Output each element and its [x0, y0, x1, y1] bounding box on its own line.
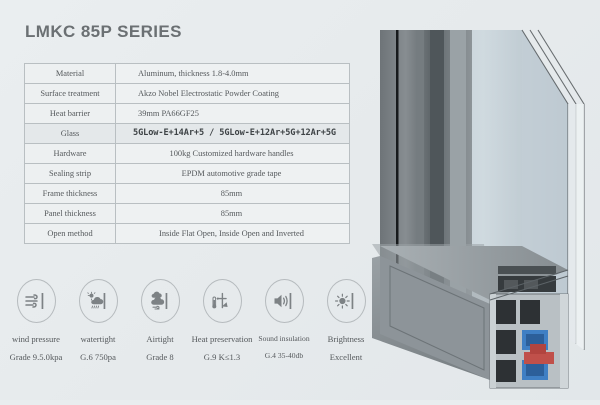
spec-value: 100kg Customized hardware handles	[116, 144, 350, 164]
table-row: Sealing strip EPDM automotive grade tape	[25, 164, 350, 184]
spec-key: Material	[25, 64, 116, 84]
feature-item-airtight: Airtight Grade 8	[130, 279, 190, 362]
feature-label: Airtight	[146, 335, 173, 345]
feature-label: Brightness	[328, 335, 365, 345]
wind-icon-badge	[17, 279, 56, 323]
spec-key: Frame thickness	[25, 184, 116, 204]
window-profile-illustration	[372, 8, 600, 400]
feature-label: Heat preservation	[192, 335, 253, 345]
table-row: Frame thickness 85mm	[25, 184, 350, 204]
feature-item-sound-insulation: Sound insulation G.4 35-40db	[254, 279, 314, 360]
specification-table: Material Aluminum, thickness 1.8-4.0mm S…	[24, 63, 350, 244]
table-row: Panel thickness 85mm	[25, 204, 350, 224]
spec-key: Surface treatment	[25, 84, 116, 104]
cloud-wind-icon	[148, 291, 172, 311]
feature-item-brightness: Brightness Excellent	[316, 279, 376, 362]
spec-key: Glass	[25, 124, 116, 144]
page-title: LMKC 85P SERIES	[25, 22, 182, 42]
feature-list: wind pressure Grade 9.5.0kpa	[6, 279, 376, 362]
spec-value: 85mm	[116, 184, 350, 204]
spec-value: EPDM automotive grade tape	[116, 164, 350, 184]
feature-label: Sound insulation	[258, 335, 309, 344]
spec-key: Open method	[25, 224, 116, 244]
spec-table-body: Material Aluminum, thickness 1.8-4.0mm S…	[25, 64, 350, 244]
feature-item-wind-pressure: wind pressure Grade 9.5.0kpa	[6, 279, 66, 362]
sun-icon	[334, 291, 358, 311]
spec-value-glass: 5GLow-E+14Ar+5 / 5GLow-E+12Ar+5G+12Ar+5G	[116, 124, 350, 144]
thermometer-icon-badge	[203, 279, 242, 323]
thermometer-icon	[210, 291, 234, 311]
table-row: Material Aluminum, thickness 1.8-4.0mm	[25, 64, 350, 84]
table-row: Hardware 100kg Customized hardware handl…	[25, 144, 350, 164]
speaker-icon	[272, 291, 296, 311]
table-row: Open method Inside Flat Open, Inside Ope…	[25, 224, 350, 244]
feature-label: wind pressure	[12, 335, 60, 345]
feature-value: Grade 9.5.0kpa	[10, 352, 63, 362]
spec-key: Hardware	[25, 144, 116, 164]
spec-value: Aluminum, thickness 1.8-4.0mm	[116, 64, 350, 84]
feature-label: watertight	[81, 335, 116, 345]
feature-item-heat-preservation: Heat preservation G.9 K≤1.3	[192, 279, 252, 362]
spec-key: Panel thickness	[25, 204, 116, 224]
table-row: Surface treatment Akzo Nobel Electrostat…	[25, 84, 350, 104]
feature-value: Grade 8	[146, 352, 173, 362]
feature-value: G.6 750pa	[80, 352, 116, 362]
table-row-glass: Glass 5GLow-E+14Ar+5 / 5GLow-E+12Ar+5G+1…	[25, 124, 350, 144]
product-render	[372, 8, 600, 400]
feature-value: G.9 K≤1.3	[204, 352, 240, 362]
slide-root: LMKC 85P SERIES Material Aluminum, thick…	[0, 0, 600, 400]
spec-key: Sealing strip	[25, 164, 116, 184]
wind-icon	[24, 291, 48, 311]
sun-icon-badge	[327, 279, 366, 323]
feature-item-watertight: watertight G.6 750pa	[68, 279, 128, 362]
rain-cloud-icon-badge	[79, 279, 118, 323]
spec-value: Akzo Nobel Electrostatic Powder Coating	[116, 84, 350, 104]
spec-value: 39mm PA66GF25	[116, 104, 350, 124]
feature-value: G.4 35-40db	[265, 351, 303, 360]
feature-value: Excellent	[330, 352, 362, 362]
table-row: Heat barrier 39mm PA66GF25	[25, 104, 350, 124]
speaker-icon-badge	[265, 279, 304, 323]
spec-value: Inside Flat Open, Inside Open and Invert…	[116, 224, 350, 244]
cloud-wind-icon-badge	[141, 279, 180, 323]
spec-value: 85mm	[116, 204, 350, 224]
spec-key: Heat barrier	[25, 104, 116, 124]
rain-cloud-icon	[86, 291, 110, 311]
